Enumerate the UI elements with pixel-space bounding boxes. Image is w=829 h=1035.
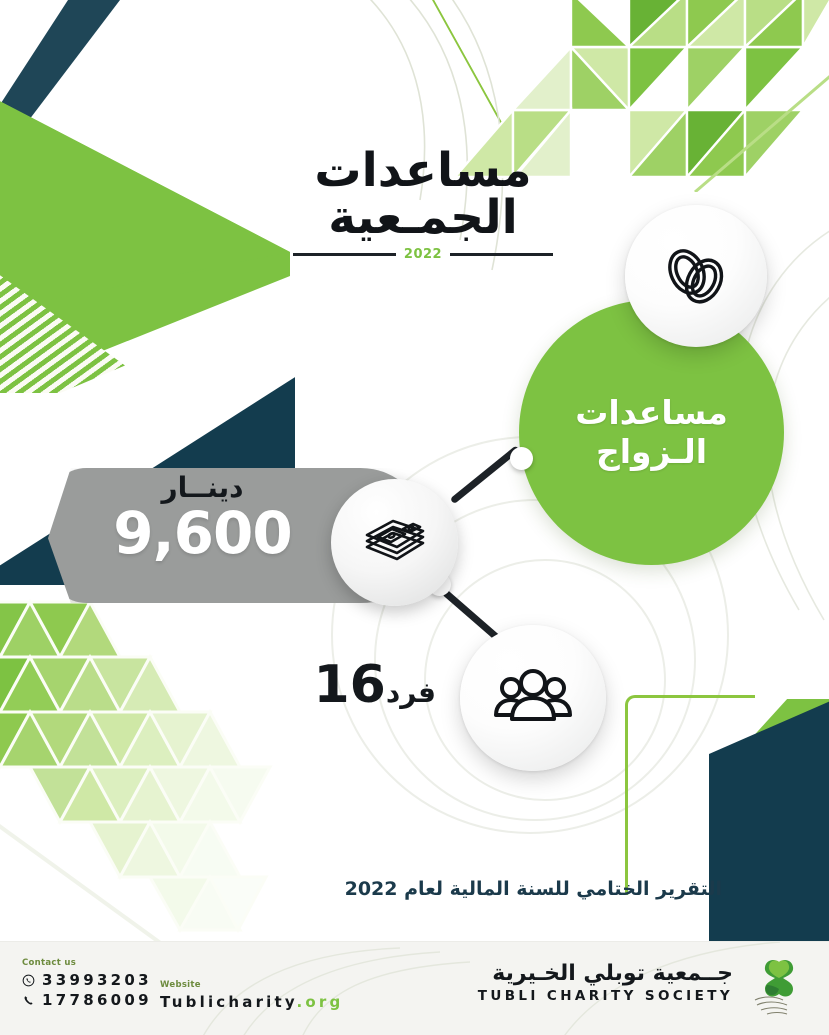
phone-icon[interactable] [22,994,35,1007]
money-stack-icon [359,507,431,579]
icon-bubble-wedding-rings [625,205,767,347]
connector-dot-category [510,447,533,470]
website-name[interactable]: Tublicharity [160,993,297,1011]
brand-name-arabic: جــمعية توبلي الخـيرية [478,962,733,986]
website-label: Website [160,980,343,990]
title-line-2: الجمـعية [293,195,553,242]
title-line-1: مساعدات [293,148,553,195]
decor-navy-top-left-sliver [0,0,120,120]
category-circle-marriage-assistance: مساعدات الـزواج [519,300,784,565]
beneficiaries-count-group: فرد16 [300,655,440,715]
title-rule-right [450,253,553,256]
icon-bubble-money [331,479,458,606]
title-year: 2022 [404,247,442,262]
phone-row[interactable]: 17786009 [22,991,152,1009]
whatsapp-number[interactable]: 33993203 [42,971,152,989]
whatsapp-row[interactable]: 33993203 [22,971,152,989]
title-rule-left [293,253,396,256]
poster-title: مساعدات الجمـعية 2022 [293,148,553,262]
footer: Contact us 33993203 17786009 Website T [0,941,829,1035]
phone-number[interactable]: 17786009 [42,991,152,1009]
decor-triangle-mosaic-bottom-left [0,562,370,962]
amount-value: 9,600 [70,504,335,562]
wedding-rings-icon [656,236,736,316]
amount-text-group: دينــار 9,600 [70,474,335,562]
footer-contact-block: Contact us 33993203 17786009 [22,958,152,1011]
icon-bubble-people [460,625,606,771]
whatsapp-icon[interactable] [22,974,35,987]
footer-brand-block: جــمعية توبلي الخـيرية TUBLI CHARITY SOC… [478,962,733,1004]
website-tld[interactable]: .org [297,993,344,1011]
category-label-line-2: الـزواج [596,433,707,472]
brand-name-english: TUBLI CHARITY SOCIETY [478,988,733,1004]
tubli-charity-logo [741,956,817,1024]
infographic-poster: مساعدات الجمـعية 2022 مساعدات الـزواج دي… [0,0,829,1035]
beneficiaries-unit-label: فرد [386,676,436,709]
category-label-line-1: مساعدات [575,394,727,433]
beneficiaries-value: 16 [314,655,386,715]
contact-label: Contact us [22,958,152,968]
website-url[interactable]: Tublicharity.org [160,993,343,1011]
title-year-row: 2022 [293,247,553,262]
amount-unit-label: دينــار [70,474,335,502]
people-group-icon [490,655,576,741]
footer-website-block: Website Tublicharity.org [160,980,343,1011]
decor-green-outline-bracket-bottom-right [625,695,755,895]
report-caption: التقرير الختامي للسنة المالية لعام 2022 [345,878,722,900]
